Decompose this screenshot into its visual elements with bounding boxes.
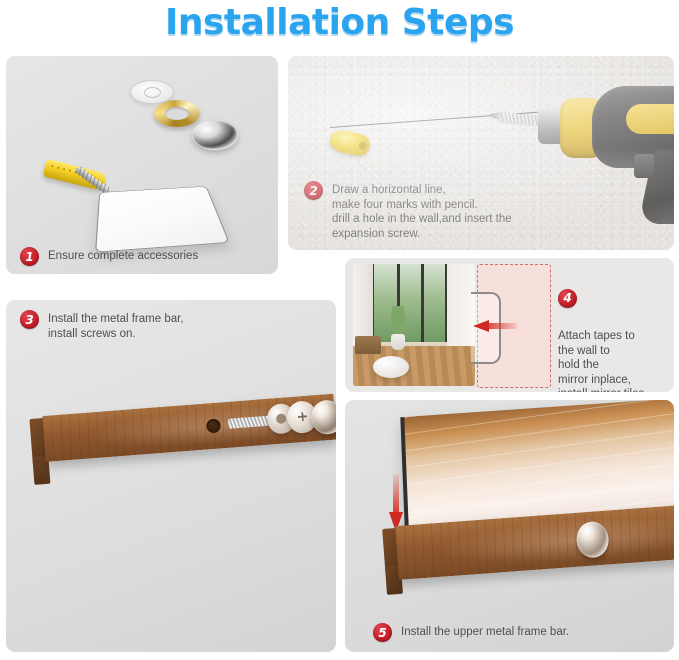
step-1-caption: 1 Ensure complete accessories xyxy=(20,247,198,266)
step-number-badge-3: 3 xyxy=(20,310,39,329)
step-2-text: Draw a horizontal line, make four marks … xyxy=(332,181,512,241)
step-4-text: Attach tapes to the wall to hold the mir… xyxy=(558,329,670,392)
step-3-text: Install the metal frame bar, install scr… xyxy=(48,310,184,341)
step-panel-4: 4 Attach tapes to the wall to hold the m… xyxy=(345,258,674,392)
step-panel-2: 2 Draw a horizontal line, make four mark… xyxy=(288,56,674,250)
wood-frame-bar xyxy=(42,394,336,462)
brass-ring-icon xyxy=(154,100,200,127)
step-4-caption: 4 Attach tapes to the wall to hold the m… xyxy=(558,274,670,392)
step-2-caption: 2 Draw a horizontal line, make four mark… xyxy=(304,181,512,241)
left-arrow-icon xyxy=(473,320,517,332)
page-title: Installation Steps xyxy=(0,2,679,43)
step-number-badge-4: 4 xyxy=(558,289,577,308)
step-panel-1: 1 Ensure complete accessories xyxy=(6,56,278,274)
step-5-text: Install the upper metal frame bar. xyxy=(401,623,569,640)
step-1-text: Ensure complete accessories xyxy=(48,247,198,264)
step-panel-5: 5 Install the upper metal frame bar. xyxy=(345,400,674,652)
step-3-caption: 3 Install the metal frame bar, install s… xyxy=(20,310,184,341)
step-number-badge-2: 2 xyxy=(304,181,323,200)
step-number-badge-5: 5 xyxy=(373,623,392,642)
room-photo xyxy=(353,264,475,386)
mirror-tile-icon xyxy=(95,186,230,252)
step-panel-3: 3 Install the metal frame bar, install s… xyxy=(6,300,336,652)
down-arrow-icon xyxy=(389,474,403,532)
step-number-badge-1: 1 xyxy=(20,247,39,266)
step-5-caption: 5 Install the upper metal frame bar. xyxy=(373,623,569,642)
power-drill-icon xyxy=(538,78,674,223)
chrome-cap-icon xyxy=(192,120,238,150)
